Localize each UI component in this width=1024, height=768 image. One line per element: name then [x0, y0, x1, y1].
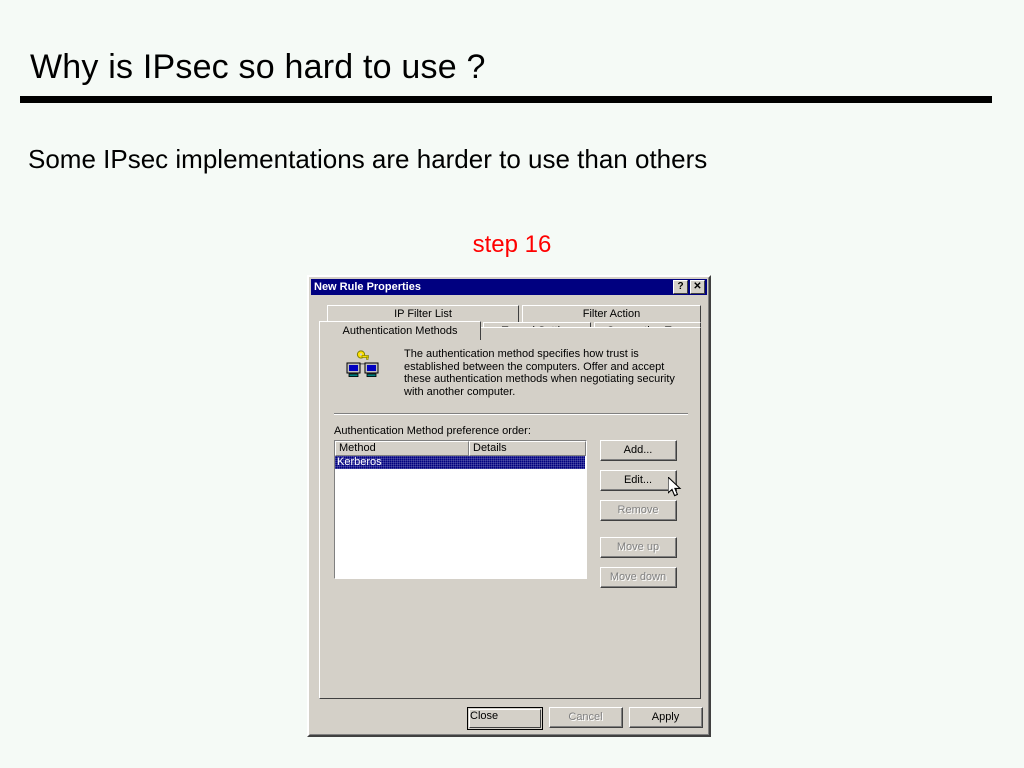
dialog-button-bar: Close Cancel Apply [309, 703, 709, 735]
move-down-button: Move down [600, 567, 677, 588]
list-label: Authentication Method preference order: [334, 425, 531, 437]
tab-strip: IP Filter List Filter Action Authenticat… [319, 305, 701, 327]
move-up-button: Move up [600, 537, 677, 558]
move-up-button-label: Move up [601, 538, 676, 557]
divider [334, 413, 688, 415]
step-label: step 16 [0, 231, 1024, 259]
help-icon[interactable]: ? [673, 280, 688, 294]
two-computers-key-icon [346, 350, 380, 382]
list-header-row: Method Details [335, 441, 586, 456]
move-down-button-label: Move down [601, 568, 676, 587]
dialog-titlebar[interactable]: New Rule Properties ? ✕ [311, 279, 707, 295]
remove-button-label: Remove [601, 501, 676, 520]
authentication-method-list[interactable]: Method Details Kerberos [334, 440, 587, 579]
tab-ip-filter-list[interactable]: IP Filter List [327, 305, 519, 322]
column-header-details[interactable]: Details [469, 441, 586, 456]
apply-button[interactable]: Apply [629, 707, 703, 728]
tab-filter-action[interactable]: Filter Action [522, 305, 701, 322]
cancel-button: Cancel [549, 707, 623, 728]
apply-button-label: Apply [630, 708, 702, 727]
add-button-label: Add... [601, 441, 676, 460]
list-item[interactable]: Kerberos [335, 456, 585, 469]
edit-button-label: Edit... [601, 471, 676, 490]
step-label-text: step 16 [473, 231, 552, 258]
close-button[interactable]: Close [467, 707, 543, 730]
slide-subtitle: Some IPsec implementations are harder to… [28, 144, 707, 175]
titlebar-button-group: ? ✕ [673, 280, 705, 294]
authentication-methods-panel: The authentication method specifies how … [319, 327, 701, 699]
column-header-method[interactable]: Method [335, 441, 469, 456]
title-underline-rule [20, 96, 992, 103]
add-button[interactable]: Add... [600, 440, 677, 461]
dialog-title-text: New Rule Properties [311, 279, 421, 295]
panel-description: The authentication method specifies how … [404, 348, 686, 398]
close-icon[interactable]: ✕ [690, 280, 705, 294]
list-action-buttons: Add... Edit... Remove Move up Move down [600, 440, 680, 597]
close-button-label: Close [470, 710, 498, 722]
close-button-face: Close [469, 709, 541, 728]
edit-button[interactable]: Edit... [600, 470, 677, 491]
cancel-button-label: Cancel [550, 708, 622, 727]
page-title: Why is IPsec so hard to use ? [30, 48, 486, 87]
new-rule-properties-dialog: New Rule Properties ? ✕ IP Filter List F… [307, 275, 711, 737]
tab-authentication-methods[interactable]: Authentication Methods [319, 321, 481, 340]
remove-button: Remove [600, 500, 677, 521]
